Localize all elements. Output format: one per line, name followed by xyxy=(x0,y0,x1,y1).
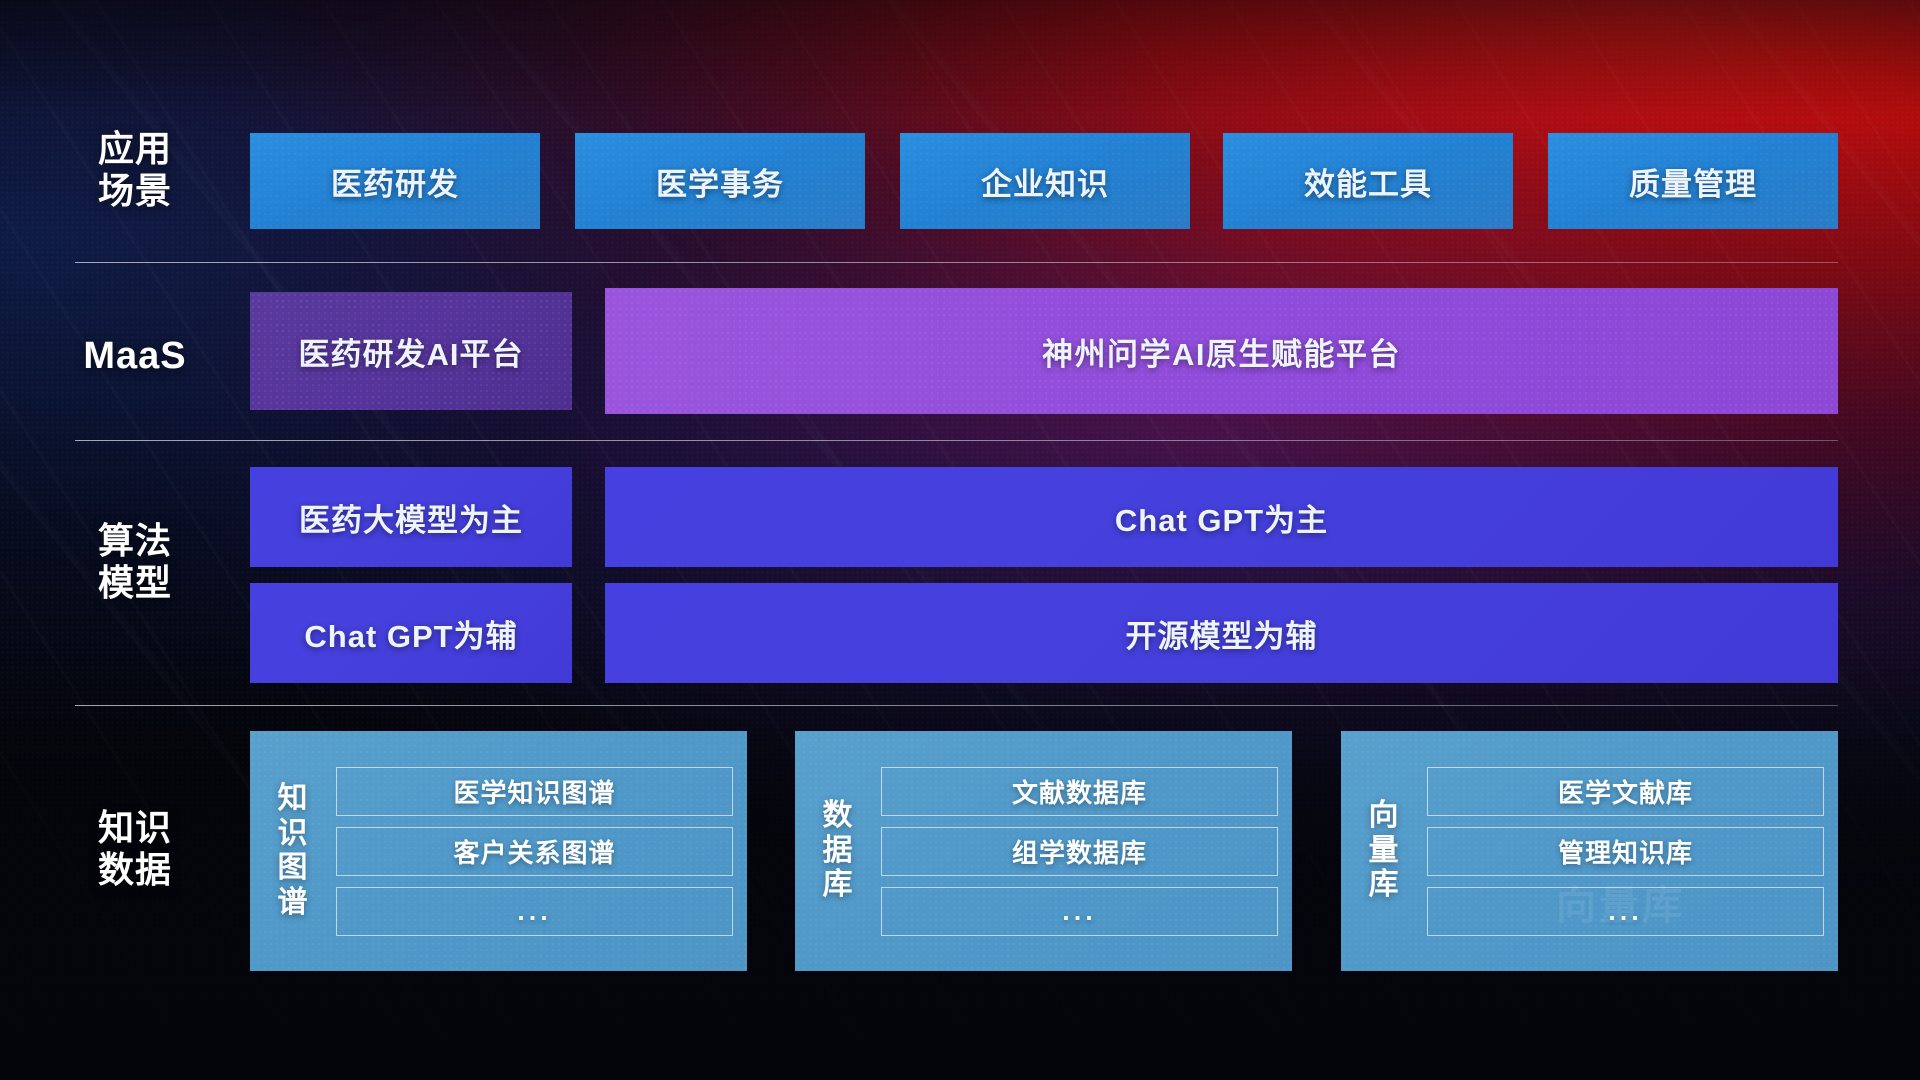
divider-application-maas xyxy=(75,262,1838,263)
knowledge-group-title: 数 据 库 xyxy=(795,799,881,903)
knowledge-item[interactable]: 组学数据库 xyxy=(881,827,1278,876)
divider-maas-algorithm xyxy=(75,440,1838,441)
algo-box-right-0[interactable]: Chat GPT为主 xyxy=(605,467,1838,567)
knowledge-item[interactable]: 管理知识库 xyxy=(1427,827,1824,876)
app-box-4[interactable]: 质量管理 xyxy=(1548,133,1838,229)
tile-dot-texture xyxy=(1223,133,1513,229)
slide-canvas: 应用 场景 医药研发 医学事务 企业知识 效能工具 质量管理 MaaS 医药研发… xyxy=(0,0,1920,1080)
knowledge-item-more[interactable]: ... xyxy=(1427,887,1824,936)
knowledge-group-items: 医学知识图谱 客户关系图谱 ... xyxy=(336,767,733,936)
row-label-knowledge: 知识 数据 xyxy=(75,807,195,892)
knowledge-group-items: 文献数据库 组学数据库 ... xyxy=(881,767,1278,936)
algo-box-label: 开源模型为辅 xyxy=(1126,611,1318,656)
knowledge-item-more[interactable]: ... xyxy=(881,887,1278,936)
knowledge-item[interactable]: 医学文献库 xyxy=(1427,767,1824,816)
algo-box-left-0[interactable]: 医药大模型为主 xyxy=(250,467,572,567)
knowledge-group-database[interactable]: 数 据 库 文献数据库 组学数据库 ... xyxy=(795,731,1292,971)
algo-box-right-1[interactable]: 开源模型为辅 xyxy=(605,583,1838,683)
maas-box-medical-ai-platform[interactable]: 医药研发AI平台 xyxy=(250,292,572,410)
knowledge-group-title: 知 识 图 谱 xyxy=(250,782,336,920)
algo-box-label: Chat GPT为辅 xyxy=(304,611,517,656)
knowledge-group-items: 医学文献库 管理知识库 ... xyxy=(1427,767,1824,936)
algo-box-label: 医药大模型为主 xyxy=(299,495,523,540)
knowledge-item[interactable]: 医学知识图谱 xyxy=(336,767,733,816)
tile-dot-texture xyxy=(250,292,572,410)
row-label-application: 应用 场景 xyxy=(75,128,195,213)
knowledge-group-knowledge-graph[interactable]: 知 识 图 谱 医学知识图谱 客户关系图谱 ... xyxy=(250,731,747,971)
algo-box-left-1[interactable]: Chat GPT为辅 xyxy=(250,583,572,683)
row-label-maas: MaaS xyxy=(75,334,195,379)
tile-dot-texture xyxy=(1548,133,1838,229)
maas-box-shenzhou-wenxue-platform[interactable]: 神州问学AI原生赋能平台 xyxy=(605,288,1838,414)
tile-dot-texture xyxy=(575,133,865,229)
row-label-algorithm: 算法 模型 xyxy=(75,520,195,605)
knowledge-item[interactable]: 客户关系图谱 xyxy=(336,827,733,876)
app-box-1[interactable]: 医学事务 xyxy=(575,133,865,229)
knowledge-group-vector-store[interactable]: 向量库 向 量 库 医学文献库 管理知识库 ... xyxy=(1341,731,1838,971)
algo-box-label: Chat GPT为主 xyxy=(1115,495,1328,540)
knowledge-item-more[interactable]: ... xyxy=(336,887,733,936)
app-box-2[interactable]: 企业知识 xyxy=(900,133,1190,229)
app-box-0[interactable]: 医药研发 xyxy=(250,133,540,229)
knowledge-group-title: 向 量 库 xyxy=(1341,799,1427,903)
app-box-3[interactable]: 效能工具 xyxy=(1223,133,1513,229)
divider-algorithm-knowledge xyxy=(75,705,1838,706)
knowledge-item[interactable]: 文献数据库 xyxy=(881,767,1278,816)
tile-dot-texture xyxy=(605,288,1838,414)
background-top-fade xyxy=(0,0,1920,120)
tile-dot-texture xyxy=(250,133,540,229)
tile-dot-texture xyxy=(900,133,1190,229)
